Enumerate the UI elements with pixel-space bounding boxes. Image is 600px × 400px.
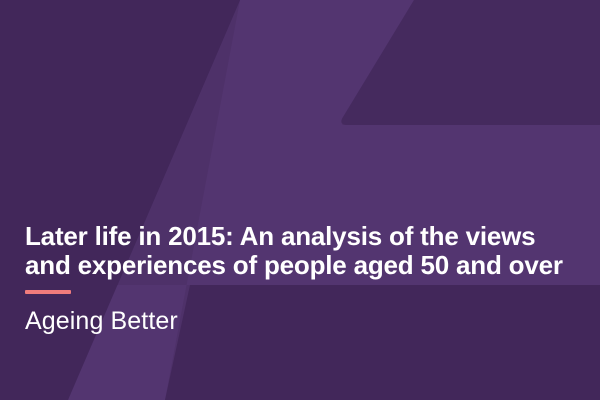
cover-subtitle: Ageing Better xyxy=(25,307,565,336)
report-cover: Later life in 2015: An analysis of the v… xyxy=(0,0,600,400)
title-accent-rule xyxy=(25,290,71,294)
cover-text-block: Later life in 2015: An analysis of the v… xyxy=(25,222,565,336)
geometric-purple-artwork xyxy=(0,0,600,400)
page-title: Later life in 2015: An analysis of the v… xyxy=(25,222,565,280)
